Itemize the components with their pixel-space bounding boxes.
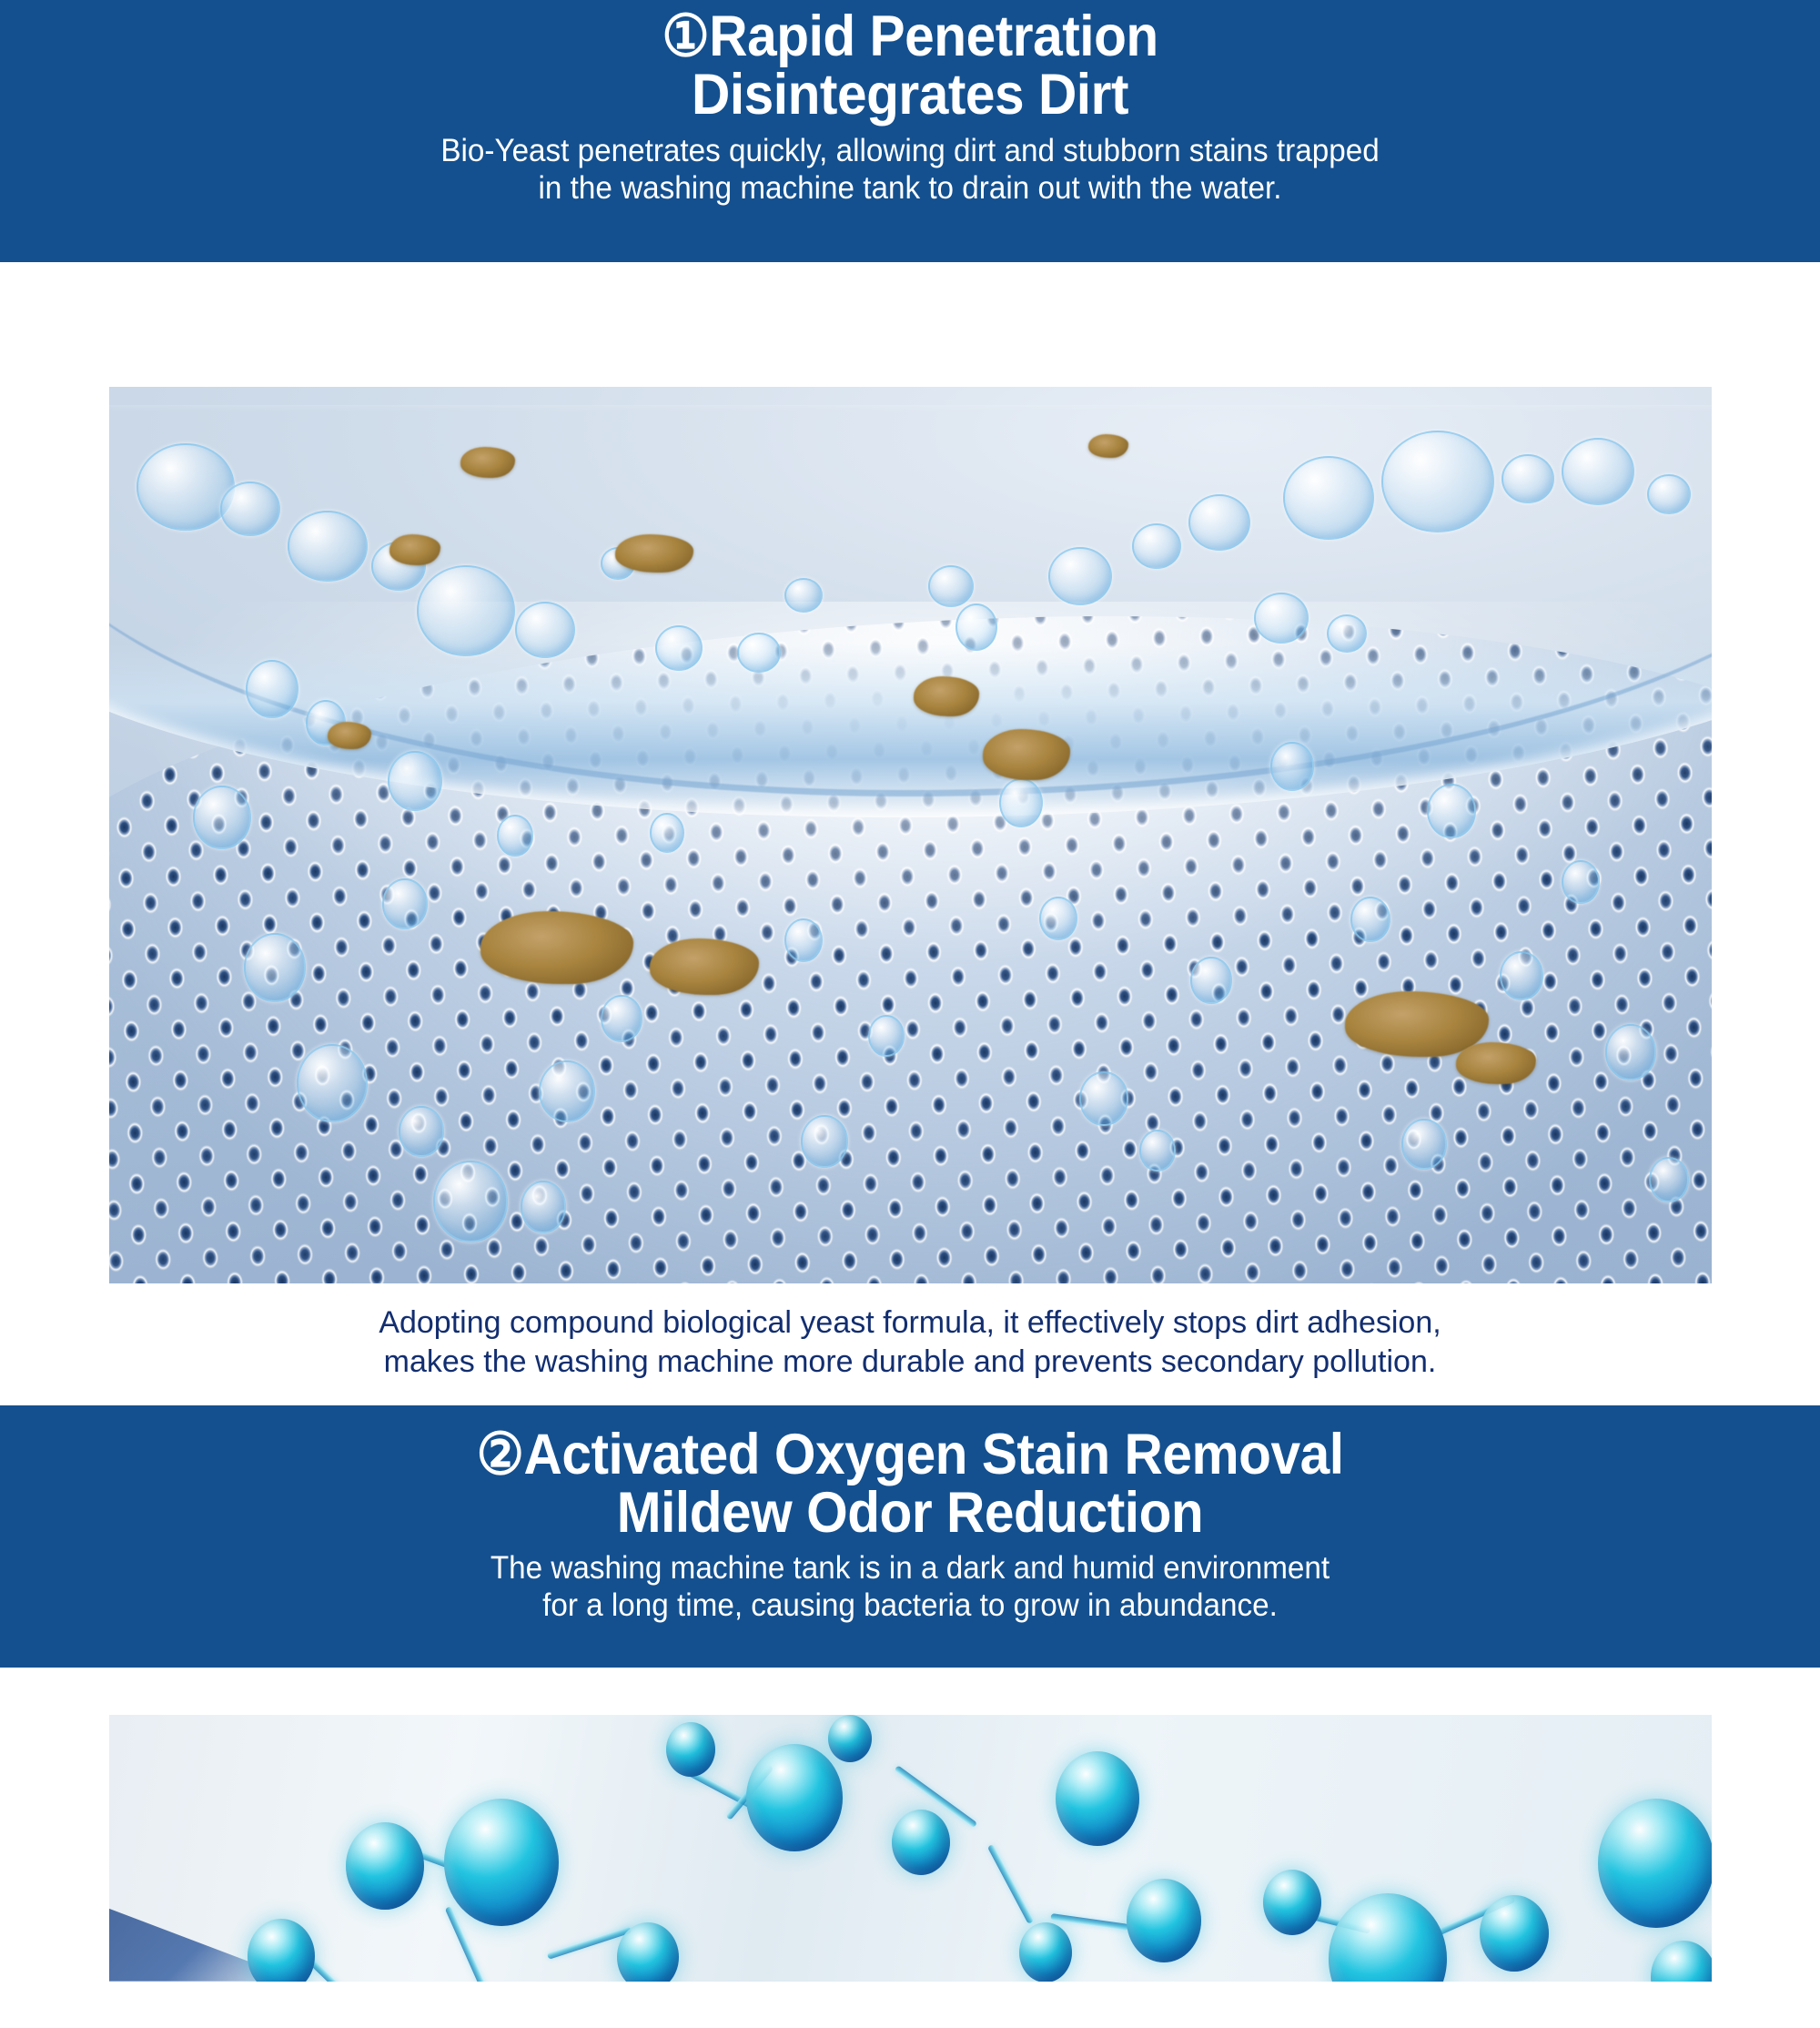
section-two-subtitle-line-2: for a long time, causing bacteria to gro…	[45, 1587, 1774, 1624]
drum-bubble	[1190, 957, 1232, 1004]
drum-bubble	[1039, 897, 1077, 940]
dirt-clump	[650, 938, 759, 995]
water-bubble	[1327, 614, 1367, 653]
drum-bubble	[784, 918, 823, 962]
drum-bubble	[999, 778, 1043, 827]
molecule-atom	[1127, 1879, 1201, 1962]
drum-bubble	[801, 1115, 848, 1168]
drum-bubble	[601, 995, 642, 1042]
caption-line-1: Adopting compound biological yeast formu…	[0, 1303, 1820, 1343]
water-bubble	[220, 482, 280, 536]
section-two-banner: ②Activated Oxygen Stain Removal Mildew O…	[0, 1405, 1820, 1668]
drum-bubble	[868, 1015, 905, 1057]
drum-bubble	[521, 1181, 566, 1233]
water-bubble	[1381, 431, 1494, 532]
dirt-clump	[615, 534, 693, 573]
drum-bubble	[650, 813, 684, 853]
water-bubble	[1132, 523, 1181, 569]
water-bubble	[928, 565, 974, 607]
water-bubble	[1254, 593, 1309, 644]
washing-machine-drum-image	[109, 387, 1712, 1283]
drum-bubble	[1562, 860, 1600, 904]
water-bubble	[1283, 456, 1374, 540]
molecule-atom	[1056, 1751, 1139, 1846]
molecule-atom	[1019, 1922, 1072, 1982]
dirt-clump	[328, 722, 371, 749]
section-two-title-line-2: Mildew Odor Reduction	[64, 1484, 1756, 1542]
drum-bubble	[955, 603, 997, 651]
drum-bubble	[497, 815, 533, 857]
water-bubble	[1188, 494, 1250, 551]
water-bubble	[417, 565, 515, 656]
section-two-title-line-1: ②Activated Oxygen Stain Removal	[64, 1425, 1756, 1484]
water-bubble	[1647, 474, 1691, 514]
water-bubble	[136, 443, 235, 531]
molecule-atom	[1651, 1941, 1712, 1982]
water-bubble	[515, 602, 575, 658]
drum-bubble	[433, 1161, 508, 1242]
molecule-atom	[828, 1715, 872, 1762]
dirt-clump	[1088, 434, 1128, 458]
water-bubble	[784, 578, 823, 613]
molecule-atom	[1480, 1895, 1549, 1972]
drum-bubble	[1605, 1024, 1656, 1080]
section-two-subtitle-line-1: The washing machine tank is in a dark an…	[45, 1549, 1774, 1587]
water-bubble	[1562, 438, 1634, 505]
molecule-atom	[1263, 1870, 1321, 1935]
molecule-atom	[892, 1810, 950, 1875]
drum-figure-wrap	[0, 387, 1820, 1283]
molecule-atom	[666, 1722, 715, 1777]
drum-bubble	[246, 660, 298, 718]
section-one-title-line-2: Disintegrates Dirt	[64, 66, 1756, 124]
drum-bubble	[388, 751, 442, 811]
section-one-title-line-1: ①Rapid Penetration	[64, 7, 1756, 66]
molecule-atom	[746, 1744, 843, 1851]
molecule-bond	[1050, 1913, 1128, 1931]
water-bubble	[655, 625, 703, 671]
drum-bubble	[1079, 1071, 1128, 1126]
section-one-subtitle-line-1: Bio-Yeast penetrates quickly, allowing d…	[45, 132, 1774, 169]
molecule-atom	[444, 1799, 559, 1926]
drum-bubble	[382, 878, 428, 929]
drum-bubble	[1139, 1130, 1176, 1171]
molecule-atom	[248, 1919, 315, 1982]
molecule-bond	[986, 1844, 1033, 1924]
drum-bubble	[1649, 1157, 1689, 1202]
dirt-clump	[1456, 1042, 1536, 1084]
spacer-above-molecule-figure	[0, 1668, 1820, 1715]
dirt-clump	[914, 676, 979, 716]
caption-line-2: makes the washing machine more durable a…	[0, 1343, 1820, 1382]
dirt-clump	[460, 447, 515, 478]
water-bubble	[737, 633, 781, 673]
water-bubble	[1048, 547, 1112, 605]
dirt-clump	[389, 534, 440, 565]
dirt-clump	[480, 911, 633, 984]
molecule-atom	[1329, 1893, 1447, 1982]
molecule-atom	[1598, 1799, 1712, 1928]
molecule-atom	[617, 1922, 679, 1982]
molecule-structure-image	[109, 1715, 1712, 1982]
water-bubble	[288, 511, 368, 582]
molecule-figure	[109, 1715, 1712, 1982]
molecule-figure-wrap	[0, 1715, 1820, 1982]
section-one-caption: Adopting compound biological yeast formu…	[0, 1283, 1820, 1405]
spacer-above-drum-figure	[0, 262, 1820, 387]
drum-figure	[109, 387, 1712, 1283]
dirt-clump	[983, 729, 1070, 780]
drum-bubble	[193, 786, 251, 849]
water-bubble	[1501, 454, 1554, 503]
drum-bubble	[1350, 897, 1390, 942]
drum-bubble	[1401, 1119, 1447, 1170]
drum-bubble	[1427, 784, 1476, 838]
drum-bubble	[399, 1106, 444, 1157]
drum-bubble	[1500, 951, 1543, 1000]
molecule-atom	[346, 1822, 424, 1910]
drum-bubble	[1270, 742, 1314, 791]
drum-bubble	[539, 1060, 595, 1122]
drum-bubble	[244, 933, 306, 1002]
section-one-subtitle-line-2: in the washing machine tank to drain out…	[45, 169, 1774, 207]
section-one-banner: ①Rapid Penetration Disintegrates Dirt Bi…	[0, 0, 1820, 262]
drum-bubble	[297, 1044, 368, 1122]
